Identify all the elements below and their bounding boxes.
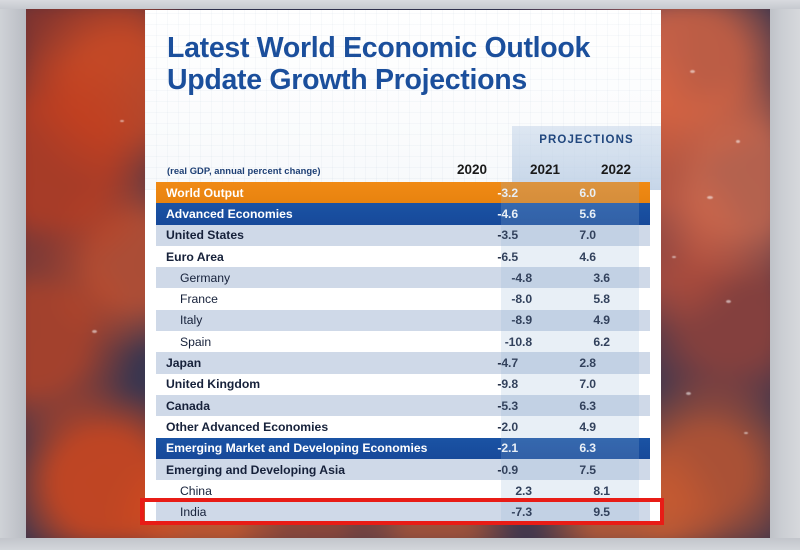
table-row: Canada-5.36.34.5 [156, 395, 650, 416]
india-row-highlight [140, 498, 664, 525]
cell-c2021: 2.8 [526, 356, 608, 370]
cell-c2020: -9.8 [452, 377, 526, 391]
row-label: Euro Area [156, 250, 452, 264]
row-label: Other Advanced Economies [156, 420, 452, 434]
table-row: United States-3.57.04.9 [156, 225, 650, 246]
row-label: Germany [156, 271, 466, 285]
title-line-1: Latest World Economic Outlook [167, 32, 637, 64]
column-header-2022: 2022 [586, 162, 646, 177]
cell-c2021: 3.6 [540, 271, 622, 285]
cell-c2021: 6.2 [540, 335, 622, 349]
cell-c2020: -4.6 [452, 207, 526, 221]
table-row: France-8.05.84.2 [156, 288, 650, 309]
row-label: United Kingdom [156, 377, 452, 391]
cell-c2022: 4.2 [622, 292, 661, 306]
cell-c2022: 4.4 [608, 207, 661, 221]
cell-c2020: -4.7 [452, 356, 526, 370]
table-row: Emerging Market and Developing Economies… [156, 438, 650, 459]
units-note: (real GDP, annual percent change) [167, 165, 321, 176]
cell-c2020: -4.8 [466, 271, 540, 285]
cell-c2021: 6.0 [526, 186, 608, 200]
cell-c2021: 7.5 [526, 463, 608, 477]
frame-edge-right [770, 0, 800, 550]
frame-edge-bottom [0, 538, 800, 550]
page-title: Latest World Economic Outlook Update Gro… [167, 32, 637, 97]
cell-c2021: 7.0 [526, 377, 608, 391]
table-row: Advanced Economies-4.65.64.4 [156, 203, 650, 224]
cell-c2022: 3.0 [608, 356, 661, 370]
cell-c2022: 4.2 [622, 313, 661, 327]
table-row: Spain-10.86.25.8 [156, 331, 650, 352]
cell-c2020: 2.3 [466, 484, 540, 498]
row-label: France [156, 292, 466, 306]
cell-c2022: 5.7 [622, 484, 661, 498]
cell-c2021: 6.3 [526, 441, 608, 455]
cell-c2022: 5.2 [608, 441, 661, 455]
row-label: World Output [156, 186, 452, 200]
row-label: United States [156, 228, 452, 242]
table-row: Other Advanced Economies-2.04.93.6 [156, 416, 650, 437]
projections-table: World Output-3.26.04.9Advanced Economies… [156, 182, 650, 522]
row-label: Emerging and Developing Asia [156, 463, 452, 477]
frame-edge-top [0, 0, 800, 9]
cell-c2022: 4.9 [608, 186, 661, 200]
row-label: Advanced Economies [156, 207, 452, 221]
cell-c2021: 6.3 [526, 399, 608, 413]
projections-label: PROJECTIONS [512, 134, 661, 146]
row-label: Canada [156, 399, 452, 413]
cell-c2020: -10.8 [466, 335, 540, 349]
cell-c2020: -3.5 [452, 228, 526, 242]
cell-c2022: 4.5 [608, 399, 661, 413]
row-label: Spain [156, 335, 466, 349]
cell-c2022: 5.8 [622, 335, 661, 349]
column-header-2021: 2021 [515, 162, 575, 177]
table-row: Japan-4.72.83.0 [156, 352, 650, 373]
table-row: Emerging and Developing Asia-0.97.56.4 [156, 459, 650, 480]
table-row: World Output-3.26.04.9 [156, 182, 650, 203]
cell-c2022: 6.4 [608, 463, 661, 477]
cell-c2021: 4.6 [526, 250, 608, 264]
row-label: Italy [156, 313, 466, 327]
cell-c2022: 3.6 [608, 420, 661, 434]
cell-c2021: 4.9 [526, 420, 608, 434]
row-label: Emerging Market and Developing Economies [156, 441, 452, 455]
row-label: China [156, 484, 466, 498]
table-row: Germany-4.83.64.1 [156, 267, 650, 288]
cell-c2022: 4.3 [608, 250, 661, 264]
title-line-2: Update Growth Projections [167, 64, 637, 96]
cell-c2020: -0.9 [452, 463, 526, 477]
cell-c2021: 5.6 [526, 207, 608, 221]
cell-c2020: -8.0 [466, 292, 540, 306]
cell-c2021: 5.8 [540, 292, 622, 306]
table-row: Italy-8.94.94.2 [156, 310, 650, 331]
infographic-card: Latest World Economic Outlook Update Gro… [145, 10, 661, 522]
row-label: Japan [156, 356, 452, 370]
cell-c2022: 4.9 [608, 228, 661, 242]
frame-edge-left [0, 0, 26, 550]
cell-c2021: 4.9 [540, 313, 622, 327]
cell-c2022: 4.8 [608, 377, 661, 391]
cell-c2020: -2.1 [452, 441, 526, 455]
table-row: United Kingdom-9.87.04.8 [156, 374, 650, 395]
column-header-2020: 2020 [442, 162, 502, 177]
cell-c2020: -6.5 [452, 250, 526, 264]
cell-c2020: -2.0 [452, 420, 526, 434]
cell-c2022: 4.1 [622, 271, 661, 285]
cell-c2020: -5.3 [452, 399, 526, 413]
table-row: Euro Area-6.54.64.3 [156, 246, 650, 267]
cell-c2021: 7.0 [526, 228, 608, 242]
cell-c2021: 8.1 [540, 484, 622, 498]
cell-c2020: -8.9 [466, 313, 540, 327]
cell-c2020: -3.2 [452, 186, 526, 200]
